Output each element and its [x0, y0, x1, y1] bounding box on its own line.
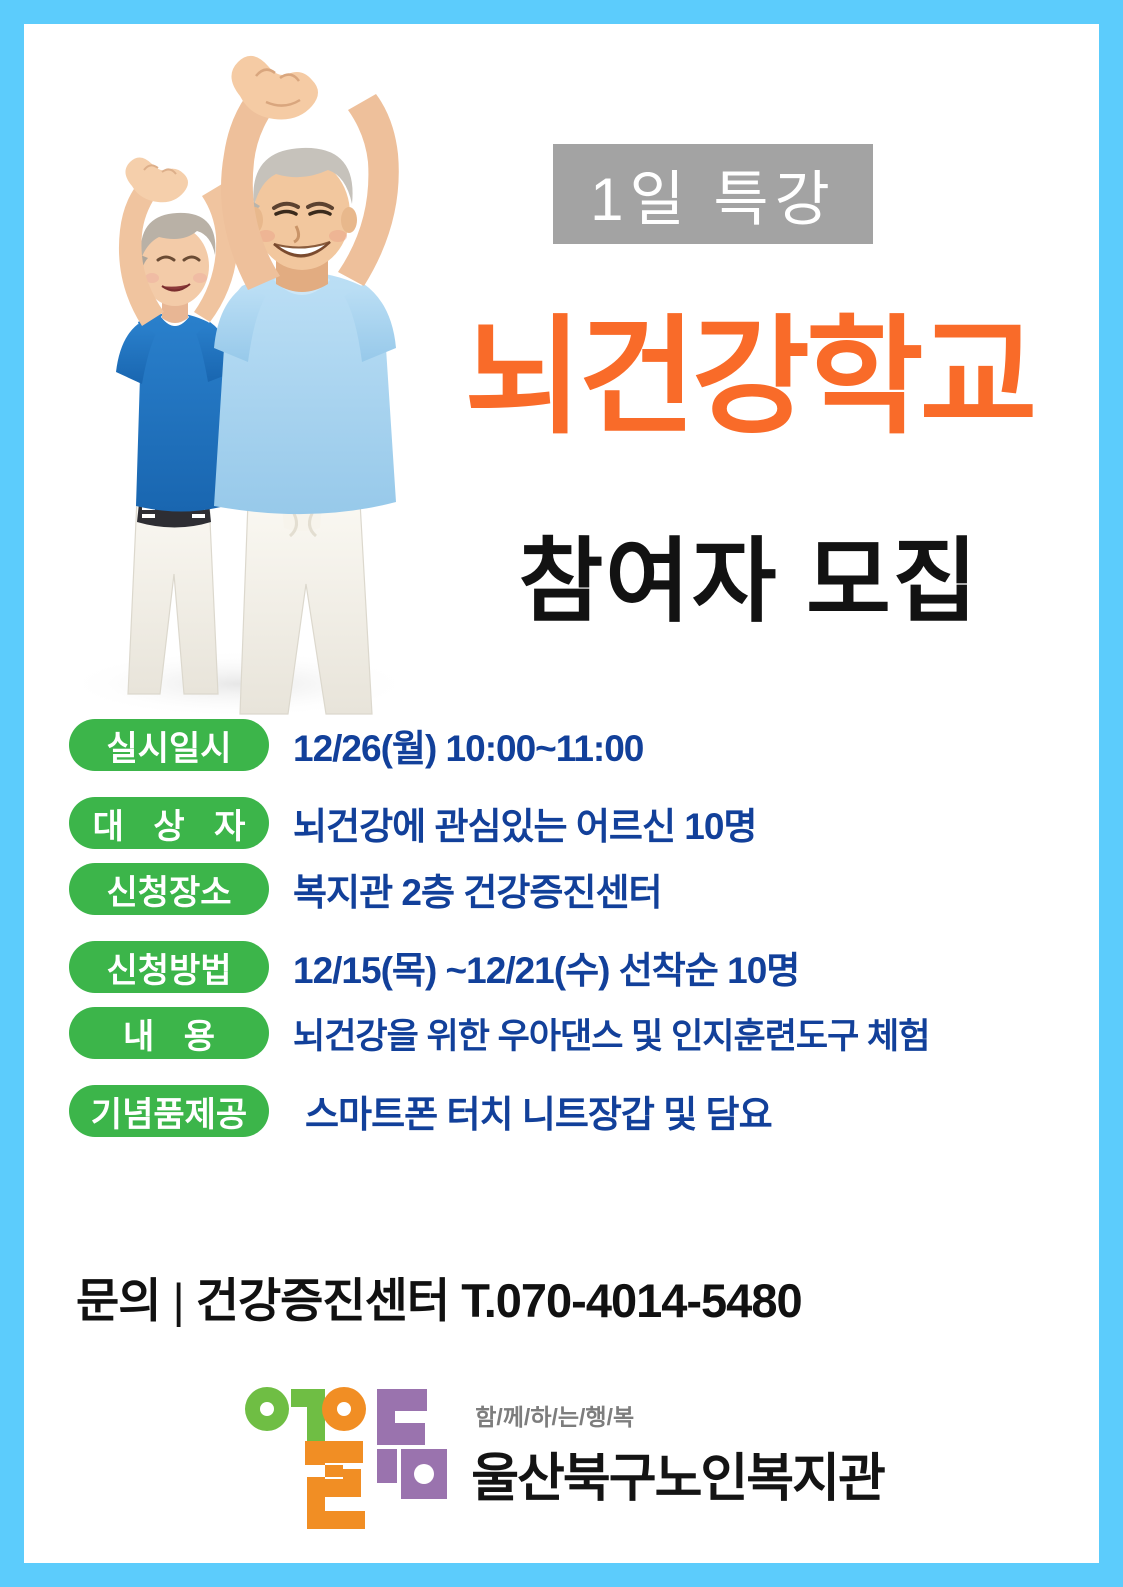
info-label-location: 신청장소 — [69, 863, 269, 915]
poster-canvas: 1일 특강 뇌건강학교 참여자 모집 실시일시 12/26(월) 10:00~1… — [24, 24, 1099, 1563]
info-value-target: 뇌건강에 관심있는 어르신 10명 — [293, 796, 756, 850]
info-label-apply-method: 신청방법 — [69, 941, 269, 993]
page-subtitle: 참여자 모집 — [419, 536, 1079, 628]
info-row-date: 실시일시 12/26(월) 10:00~11:00 — [69, 719, 1079, 771]
info-label-content: 내 용 — [69, 1007, 269, 1059]
elderly-couple-photo — [34, 54, 444, 719]
info-row-target: 대 상 자 뇌건강에 관심있는 어르신 10명 — [69, 797, 1079, 849]
poster-root: 1일 특강 뇌건강학교 참여자 모집 실시일시 12/26(월) 10:00~1… — [0, 0, 1123, 1587]
footer: 함/께/하/는/행/복 울산북구노인복지관 — [24, 1379, 1099, 1529]
info-label-gift: 기념품제공 — [69, 1085, 269, 1137]
special-lecture-badge: 1일 특강 — [553, 144, 873, 244]
info-row-content: 내 용 뇌건강을 위한 우아댄스 및 인지훈련도구 체험 — [69, 1007, 1079, 1059]
info-value-gift: 스마트폰 터치 니트장갑 및 담요 — [305, 1084, 772, 1138]
contact-label: 문의 — [76, 1274, 160, 1327]
info-value-date: 12/26(월) 10:00~11:00 — [293, 718, 643, 772]
footer-tagline: 함/께/하/는/행/복 — [475, 1398, 884, 1432]
page-title: 뇌건강학교 — [419, 314, 1079, 442]
contact-value: 건강증진센터 T.070-4014-5480 — [196, 1274, 802, 1327]
info-label-target: 대 상 자 — [69, 797, 269, 849]
info-value-apply-method: 12/15(목) ~12/21(수) 선착순 10명 — [293, 940, 799, 994]
contact-separator: | — [160, 1274, 195, 1327]
man-figure — [214, 56, 399, 714]
footer-text-block: 함/께/하/는/행/복 울산북구노인복지관 — [471, 1398, 884, 1511]
info-row-gift: 기념품제공 스마트폰 터치 니트장갑 및 담요 — [69, 1085, 1079, 1137]
info-row-apply-method: 신청방법 12/15(목) ~12/21(수) 선착순 10명 — [69, 941, 1079, 993]
footer-organization-name: 울산북구노인복지관 — [471, 1436, 884, 1511]
contact-line: 문의|건강증진센터 T.070-4014-5480 — [76, 1262, 802, 1331]
info-row-location: 신청장소 복지관 2층 건강증진센터 — [69, 863, 1079, 915]
info-value-content: 뇌건강을 위한 우아댄스 및 인지훈련도구 체험 — [293, 1008, 929, 1059]
eoullim-logo-icon — [239, 1379, 449, 1529]
info-label-date: 실시일시 — [69, 719, 269, 771]
info-value-location: 복지관 2층 건강증진센터 — [293, 862, 662, 916]
info-list: 실시일시 12/26(월) 10:00~11:00 대 상 자 뇌건강에 관심있… — [69, 719, 1079, 1137]
woman-figure — [116, 157, 238, 694]
